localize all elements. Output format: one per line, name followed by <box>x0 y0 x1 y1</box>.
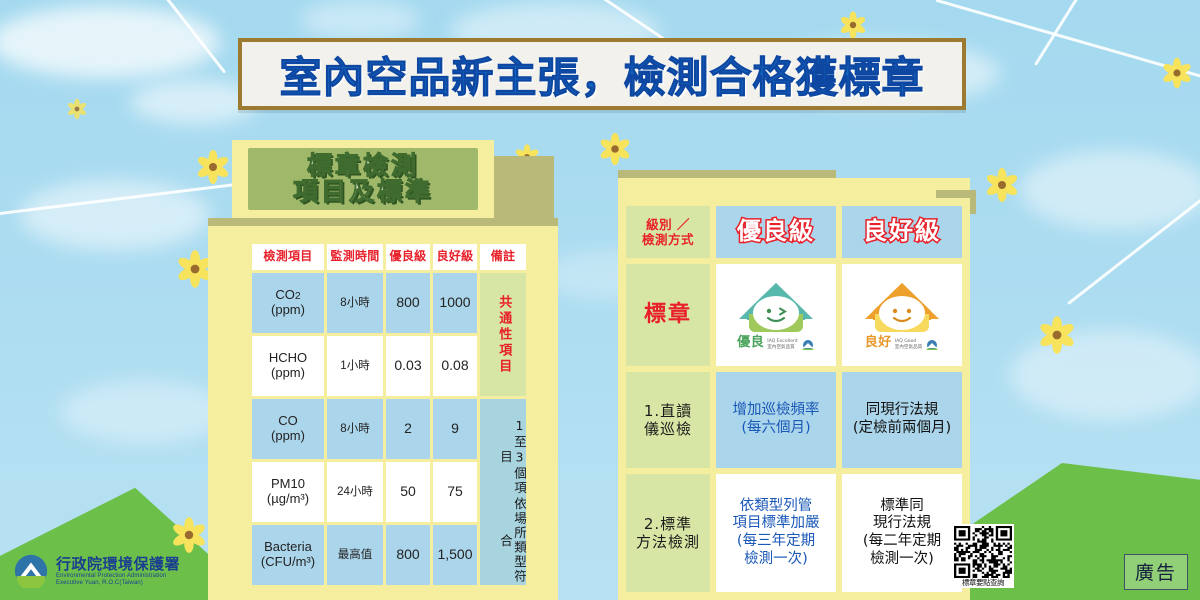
flower-center <box>850 22 856 28</box>
poster-canvas: 室內空品新主張，檢測合格獲標章 標章檢測 項目及標準 檢測項目 監測時間 優良級… <box>0 0 1200 600</box>
badge-en-label: IAQ Excellent 室內空氣品質 <box>767 339 797 350</box>
item-name: CO2 <box>275 287 300 302</box>
method-2-excellent-cell: 依類型列管 項目標準加嚴 (每三年定期 檢測一次) <box>716 474 836 592</box>
flower-icon <box>67 99 87 119</box>
item-name: PM10 <box>271 476 305 491</box>
col-header-remark: 備註 <box>480 244 526 270</box>
corner-label-line-1: 級別 ／ <box>646 217 690 232</box>
cloud-shape <box>0 6 220 78</box>
epa-mountain-icon <box>925 340 939 350</box>
qr-code-image[interactable] <box>954 526 1012 578</box>
epa-mountain-icon <box>801 340 815 350</box>
item-unit: (µg/m³) <box>267 491 309 506</box>
grade-excellent-label: 優良級 <box>737 217 815 246</box>
flower-icon <box>171 517 207 553</box>
remark-conditional-line-2: 1至3個項目 <box>498 417 526 497</box>
flower-center <box>191 265 200 274</box>
building-side-shade <box>494 156 554 218</box>
method-2-excellent-line-2: 項目標準加嚴 <box>733 515 820 531</box>
method-2-label-line-2: 方法檢測 <box>636 533 700 551</box>
flower-center <box>1173 69 1180 76</box>
method-1-excellent-line-1: 增加巡檢頻率 <box>733 402 820 418</box>
iaq-good-badge: 良好 IAQ Good 室內空氣品質 <box>842 264 962 366</box>
table-row-item: PM10(µg/m³) <box>252 462 324 522</box>
flower-icon <box>599 133 631 165</box>
table-cell-time: 1小時 <box>327 336 383 396</box>
table-cell-time: 8小時 <box>327 399 383 459</box>
epa-logo: 行政院環境保護署 Environmental Protection Admini… <box>14 554 180 588</box>
table-cell-good: 1000 <box>433 273 477 333</box>
title-banner: 室內空品新主張，檢測合格獲標章 <box>238 38 966 110</box>
flower-icon <box>985 168 1019 202</box>
left-panel-heading: 標章檢測 項目及標準 <box>248 148 478 210</box>
table-cell-good: 1,500 <box>433 525 477 585</box>
corner-label-line-2: 檢測方式 <box>642 232 694 247</box>
item-unit: (CFU/m³) <box>261 554 315 569</box>
table-cell-excellent: 2 <box>386 399 430 459</box>
badge-zh-label: 良好 <box>865 335 892 351</box>
item-name: CO <box>278 413 298 428</box>
house-smiley-icon <box>735 280 817 334</box>
method-row-2-label: 2.標準 方法檢測 <box>626 474 710 592</box>
advertisement-label: 廣告 <box>1124 554 1188 590</box>
table-row-item: HCHO(ppm) <box>252 336 324 396</box>
flower-center <box>185 531 193 539</box>
cloud-shape <box>300 0 420 40</box>
epa-mountain-icon <box>14 554 48 588</box>
epa-name-en-1: Environmental Protection Administration <box>56 573 180 580</box>
grades-table: 級別 ／ 檢測方式 優良級 良好級 標章 <box>626 206 962 582</box>
flower-center <box>1053 331 1062 340</box>
item-name: HCHO <box>269 350 307 365</box>
method-1-good-line-2: (定檢前兩個月) <box>853 420 951 436</box>
left-heading-line-2: 項目及標準 <box>293 179 433 206</box>
flower-center <box>75 107 80 112</box>
cloud-shape <box>1020 150 1200 230</box>
method-1-excellent-cell: 增加巡檢頻率 (每六個月) <box>716 372 836 468</box>
method-2-label-line-1: 2.標準 <box>644 515 692 533</box>
grade-good-label: 良好級 <box>863 217 941 246</box>
table-cell-time: 24小時 <box>327 462 383 522</box>
table-cell-good: 9 <box>433 399 477 459</box>
grade-table-corner-label: 級別 ／ 檢測方式 <box>626 206 710 258</box>
method-row-1-label: 1.直讀 儀巡檢 <box>626 372 710 468</box>
remark-conditional-line-1: 依場所類型符合 <box>498 497 526 585</box>
item-unit: (ppm) <box>271 428 305 443</box>
table-cell-excellent: 0.03 <box>386 336 430 396</box>
table-cell-good: 75 <box>433 462 477 522</box>
badge-row-label: 標章 <box>626 264 710 366</box>
flower-icon <box>1038 316 1075 353</box>
left-heading-line-1: 標章檢測 <box>307 153 419 180</box>
page-title: 室內空品新主張，檢測合格獲標章 <box>279 44 924 105</box>
table-cell-time: 最高值 <box>327 525 383 585</box>
table-cell-time: 8小時 <box>327 273 383 333</box>
epa-name-zh: 行政院環境保護署 <box>56 556 180 573</box>
method-2-excellent-line-3: (每三年定期 <box>737 533 815 549</box>
flower-icon <box>1162 58 1193 89</box>
col-header-good: 良好級 <box>433 244 477 270</box>
method-2-excellent-line-1: 依類型列管 <box>740 498 813 514</box>
method-2-excellent-line-4: 檢測一次) <box>744 551 808 567</box>
method-2-good-cell: 標準同 現行法規 (每二年定期 檢測一次) <box>842 474 962 592</box>
badge-zh-label: 優良 <box>737 335 764 351</box>
flower-icon <box>839 11 866 38</box>
table-cell-excellent: 800 <box>386 273 430 333</box>
table-row-item: Bacteria(CFU/m³) <box>252 525 324 585</box>
right-building-panel: 級別 ／ 檢測方式 優良級 良好級 標章 <box>604 170 976 600</box>
badge-cell-good: 良好 IAQ Good 室內空氣品質 <box>842 264 962 366</box>
iaq-excellent-badge: 優良 IAQ Excellent 室內空氣品質 <box>716 264 836 366</box>
table-row-item: CO(ppm) <box>252 399 324 459</box>
table-row-item: CO2(ppm) <box>252 273 324 333</box>
item-unit: (ppm) <box>271 302 305 317</box>
col-header-excellent: 優良級 <box>386 244 430 270</box>
grade-header-good: 良好級 <box>842 206 962 258</box>
method-1-label-line-2: 儀巡檢 <box>644 420 692 438</box>
qr-code-caption: 標章要點查詢 <box>954 578 1012 588</box>
epa-logo-text: 行政院環境保護署 Environmental Protection Admini… <box>56 556 180 587</box>
epa-name-en-2: Executive Yuan, R.O.C(Taiwan) <box>56 580 180 587</box>
method-2-good-line-4: 檢測一次) <box>870 551 934 567</box>
badge-en-label: IAQ Good 室內空氣品質 <box>895 339 923 350</box>
flower-center <box>611 145 619 153</box>
badge-caption-excellent: 優良 IAQ Excellent 室內空氣品質 <box>737 335 815 351</box>
qr-code-block[interactable]: 標章要點查詢 <box>952 524 1014 588</box>
flower-center <box>998 181 1006 189</box>
badge-cell-excellent: 優良 IAQ Excellent 室內空氣品質 <box>716 264 836 366</box>
method-2-good-line-2: 現行法規 <box>873 515 931 531</box>
item-unit: (ppm) <box>271 365 305 380</box>
method-2-good-line-1: 標準同 <box>880 498 924 514</box>
remark-conditional-items: 依場所類型符合 1至3個項目 <box>480 399 526 585</box>
left-building-panel: 標章檢測 項目及標準 檢測項目 監測時間 優良級 良好級 備註 CO2(ppm)… <box>208 140 558 600</box>
table-cell-excellent: 800 <box>386 525 430 585</box>
col-header-time: 監測時間 <box>327 244 383 270</box>
method-1-good-cell: 同現行法規 (定檢前兩個月) <box>842 372 962 468</box>
method-1-excellent-line-2: (每六個月) <box>741 420 810 436</box>
cloud-shape <box>60 380 230 444</box>
standards-table: 檢測項目 監測時間 優良級 良好級 備註 CO2(ppm) 8小時 800 10… <box>252 244 514 574</box>
grade-header-excellent: 優良級 <box>716 206 836 258</box>
method-1-good-line-1: 同現行法規 <box>866 402 939 418</box>
col-header-item: 檢測項目 <box>252 244 324 270</box>
method-2-good-line-3: (每二年定期 <box>863 533 941 549</box>
item-name: Bacteria <box>264 539 312 554</box>
table-cell-good: 0.08 <box>433 336 477 396</box>
table-cell-excellent: 50 <box>386 462 430 522</box>
badge-caption-good: 良好 IAQ Good 室內空氣品質 <box>865 335 940 351</box>
house-smiley-icon <box>861 280 943 334</box>
method-1-label-line-1: 1.直讀 <box>644 402 692 420</box>
remark-common-items: 共通性項目 <box>480 273 526 396</box>
